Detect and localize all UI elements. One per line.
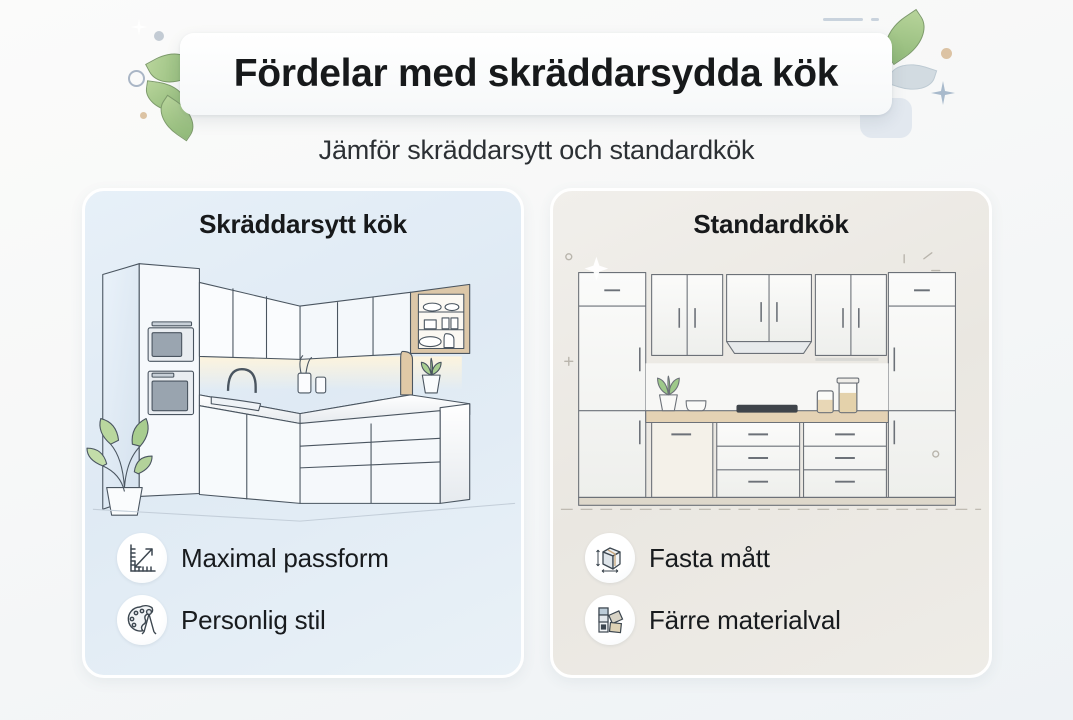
card-heading-custom: Skräddarsytt kök: [85, 209, 521, 240]
comparison-cards: Skräddarsytt kök: [82, 188, 992, 678]
feature-label: Fasta mått: [649, 543, 770, 574]
standard-kitchen-illustration: [553, 243, 989, 528]
feature-row[interactable]: Personlig stil: [117, 589, 501, 651]
page-title: Fördelar med skräddarsydda kök: [234, 52, 838, 96]
title-card: Fördelar med skräddarsydda kök: [180, 33, 892, 115]
decor-dot-beige-right: [941, 48, 952, 59]
card-heading-standard: Standardkök: [553, 209, 989, 240]
infographic-canvas: Fördelar med skräddarsydda kök Jämför sk…: [0, 0, 1073, 720]
decor-dash-long-top: [823, 18, 863, 21]
ruler-diagonal-arrow-icon: [117, 533, 167, 583]
decor-dot-grey-top-left: [154, 31, 164, 41]
decor-sparkle-left: [130, 18, 148, 41]
custom-kitchen-illustration: [85, 243, 521, 528]
page-subtitle: Jämför skräddarsytt och standardkök: [0, 135, 1073, 166]
feature-label: Färre materialval: [649, 605, 841, 636]
features-standard: Fasta mått: [585, 527, 969, 651]
feature-row[interactable]: Färre materialval: [585, 589, 969, 651]
material-swatches-icon: [585, 595, 635, 645]
decor-leaf-grey-right: [887, 57, 937, 97]
dimension-box-icon: [585, 533, 635, 583]
palette-compass-icon: [117, 595, 167, 645]
decor-dot-beige-left: [140, 112, 147, 119]
feature-row[interactable]: Maximal passform: [117, 527, 501, 589]
decor-sparkle-right: [930, 80, 956, 111]
card-custom-kitchen[interactable]: Skräddarsytt kök: [82, 188, 524, 678]
card-standard-kitchen[interactable]: Standardkök: [550, 188, 992, 678]
feature-label: Personlig stil: [181, 605, 326, 636]
decor-dash-short-top: [871, 18, 879, 21]
decor-ring-left: [128, 70, 145, 87]
feature-row[interactable]: Fasta mått: [585, 527, 969, 589]
feature-label: Maximal passform: [181, 543, 389, 574]
features-custom: Maximal passform: [117, 527, 501, 651]
